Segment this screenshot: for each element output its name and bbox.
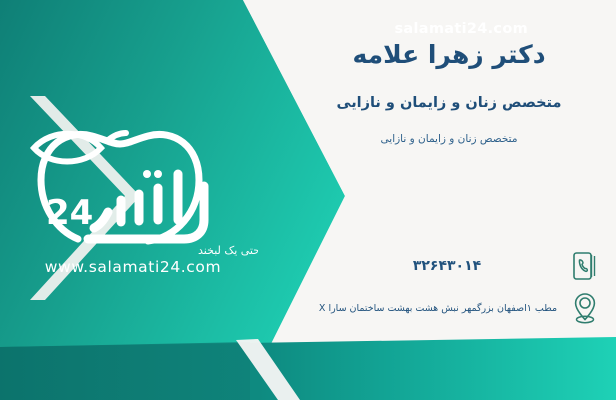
brand-logo: 24 به راحتی یک لبخند www.salamati24.com: [8, 108, 258, 288]
address-text: مطب ۱اصفهان بزرگمهر نبش هشت بهشت ساختمان…: [302, 303, 568, 314]
logo-tagline: به راحتی یک لبخند: [198, 244, 258, 257]
map-pin-icon: [568, 290, 602, 326]
phone-row[interactable]: ۳۲۶۴۳۰۱۴: [302, 248, 602, 284]
business-card: 24 به راحتی یک لبخند www.salamati24.com …: [0, 0, 616, 400]
phone-number: ۳۲۶۴۳۰۱۴: [302, 258, 568, 274]
logo-website-url: www.salamati24.com: [8, 258, 258, 276]
logo-number-24: 24: [46, 193, 93, 233]
info-panel: دکتر زهرا علامه متخصص زنان و زایمان و نا…: [286, 0, 616, 337]
phonebook-icon: [568, 248, 602, 284]
logo-number-text: 24: [46, 193, 93, 233]
footer-bar: [0, 337, 616, 400]
doctor-name: دکتر زهرا علامه: [304, 40, 594, 69]
doctor-specialty-secondary: متخصص زنان و زایمان و نازایی: [304, 133, 594, 145]
address-row[interactable]: مطب ۱اصفهان بزرگمهر نبش هشت بهشت ساختمان…: [302, 290, 602, 326]
brand-wordmark-dots: [143, 170, 162, 178]
doctor-specialty: متخصص زنان و زایمان و نازایی: [304, 95, 594, 111]
brand-wordmark: [88, 174, 204, 239]
logo-artwork: 24 به راحتی یک لبخند: [8, 108, 258, 258]
